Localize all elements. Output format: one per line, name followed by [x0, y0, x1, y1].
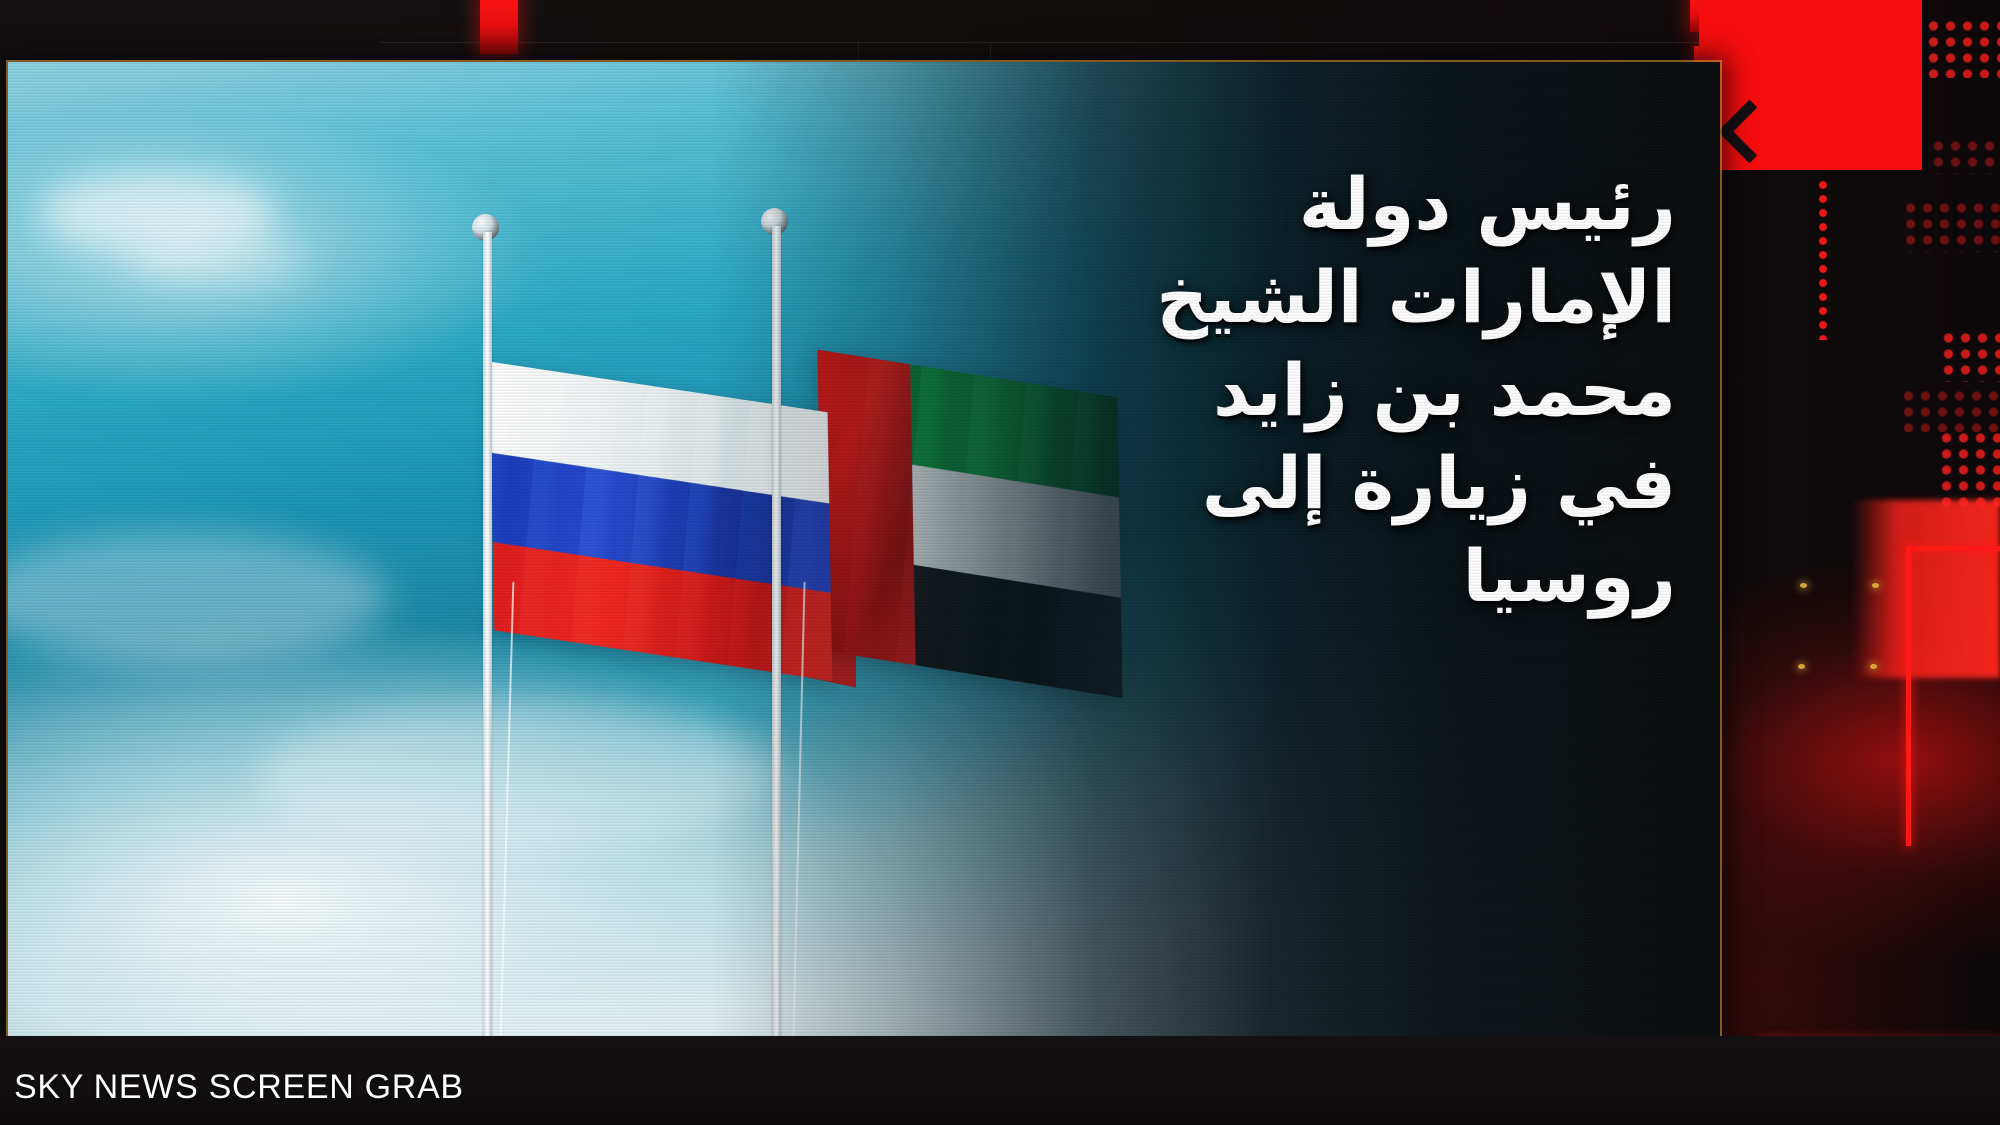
led-connector-column — [1818, 178, 1828, 340]
cloud — [258, 702, 778, 852]
credit-text: SKY NEWS SCREEN GRAB — [14, 1068, 464, 1107]
headline-line-3: محمد بن زايد — [1036, 344, 1676, 437]
led-matrix — [1930, 138, 2000, 174]
studio-accent-light — [1872, 583, 1879, 588]
studio-light-bar — [480, 0, 518, 54]
headline-line-5: روسيا — [1036, 530, 1676, 623]
chevron-left-icon — [1718, 100, 1782, 164]
studio-accent-light — [1798, 664, 1805, 669]
studio-glow-panel — [1852, 500, 2000, 678]
headline-line-2: الإمارات الشيخ — [1036, 251, 1676, 344]
led-matrix — [1938, 430, 2000, 508]
led-matrix — [1900, 388, 2000, 432]
studio-red-rule — [1908, 546, 2000, 551]
studio-accent-light — [1800, 583, 1807, 588]
studio-accent-light — [1870, 664, 1877, 669]
headline-line-4: في زيارة إلى — [1036, 437, 1676, 530]
wall-seam — [990, 44, 991, 64]
studio-red-rule — [1906, 546, 1911, 846]
broadcast-screen-grab: رئيس دولة الإمارات الشيخ محمد بن زايد في… — [0, 0, 2000, 1125]
wall-seam — [858, 42, 859, 64]
video-wall-panel: رئيس دولة الإمارات الشيخ محمد بن زايد في… — [8, 62, 1720, 1036]
headline-line-1: رئيس دولة — [1036, 158, 1676, 251]
led-matrix — [1940, 330, 2000, 382]
cloud — [128, 232, 308, 286]
headline: رئيس دولة الإمارات الشيخ محمد بن زايد في… — [1036, 158, 1676, 622]
chevron-tile[interactable] — [1699, 0, 1922, 170]
flagpole — [483, 232, 492, 1036]
led-matrix — [1902, 200, 2000, 252]
wall-seam — [380, 42, 1700, 43]
